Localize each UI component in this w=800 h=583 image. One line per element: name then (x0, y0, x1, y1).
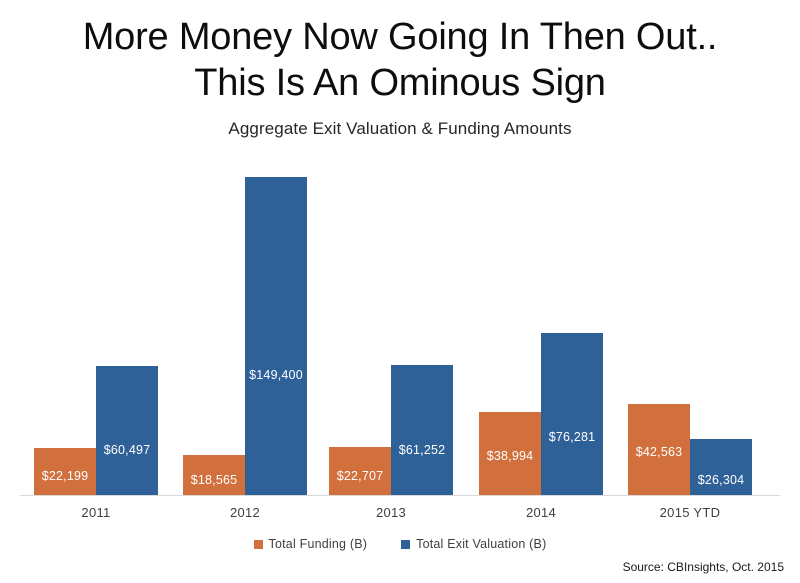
bar-value-label: $76,281 (541, 430, 603, 444)
bar-2012-exit: $149,400 (245, 177, 307, 495)
bar-value-label: $42,563 (628, 445, 690, 459)
category-label-2012: 2012 (183, 505, 307, 520)
bar-value-label: $61,252 (391, 443, 453, 457)
bar-value-label: $60,497 (96, 443, 158, 457)
legend-swatch-funding-icon (254, 540, 263, 549)
bar-2012-funding: $18,565 (183, 455, 245, 495)
category-label-2015-ytd: 2015 YTD (628, 505, 752, 520)
bar-2013-funding: $22,707 (329, 447, 391, 495)
category-label-2011: 2011 (34, 505, 158, 520)
legend-label: Total Exit Valuation (B) (416, 537, 546, 551)
bar-2011-exit: $60,497 (96, 366, 158, 495)
bar-2011-funding: $22,199 (34, 448, 96, 495)
category-label-2014: 2014 (479, 505, 603, 520)
bar-value-label: $149,400 (245, 368, 307, 382)
bar-value-label: $18,565 (183, 473, 245, 487)
source-note: Source: CBInsights, Oct. 2015 (623, 560, 784, 574)
bar-2015-ytd-exit: $26,304 (690, 439, 752, 495)
plot-area: $22,199$60,497$18,565$149,400$22,707$61,… (0, 0, 800, 583)
bar-2014-funding: $38,994 (479, 412, 541, 495)
chart-page: More Money Now Going In Then Out.. This … (0, 0, 800, 583)
legend-item-exit[interactable]: Total Exit Valuation (B) (401, 537, 546, 551)
legend-label: Total Funding (B) (269, 537, 368, 551)
legend-item-funding[interactable]: Total Funding (B) (254, 537, 368, 551)
bar-value-label: $22,199 (34, 469, 96, 483)
axis-baseline (20, 495, 780, 496)
bar-2014-exit: $76,281 (541, 333, 603, 495)
chart-legend: Total Funding (B)Total Exit Valuation (B… (0, 537, 800, 551)
bar-value-label: $26,304 (690, 473, 752, 487)
category-label-2013: 2013 (329, 505, 453, 520)
bar-2013-exit: $61,252 (391, 365, 453, 495)
bar-value-label: $38,994 (479, 449, 541, 463)
legend-swatch-exit-icon (401, 540, 410, 549)
bar-value-label: $22,707 (329, 469, 391, 483)
bar-2015-ytd-funding: $42,563 (628, 404, 690, 495)
